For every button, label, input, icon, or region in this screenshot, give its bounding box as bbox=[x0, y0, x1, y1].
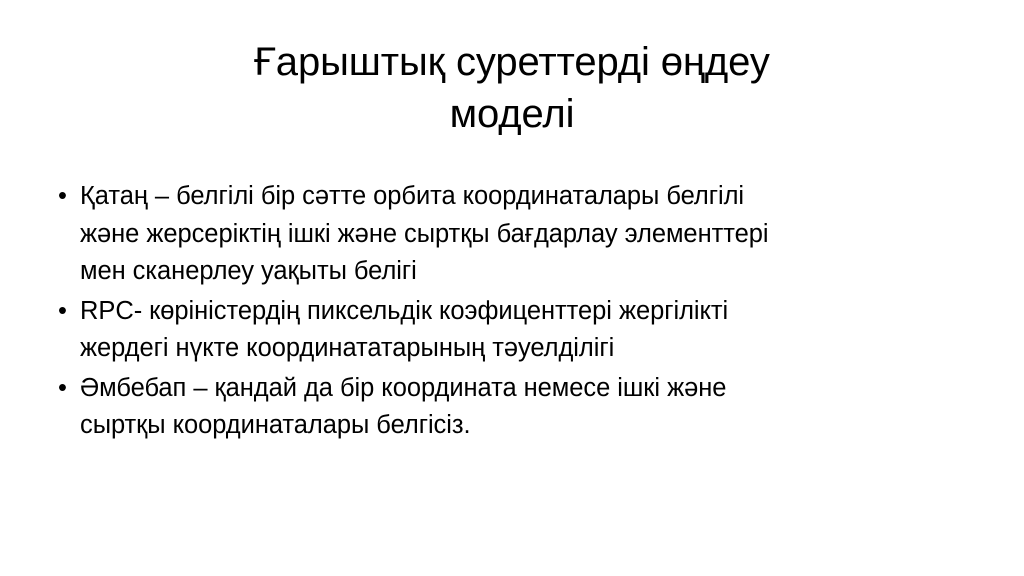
list-item-text: RPC- көріністердің пиксельдік коэфицентт… bbox=[80, 293, 780, 368]
bullet-dot-icon: • bbox=[58, 370, 72, 408]
slide-title-line-2: моделі bbox=[64, 88, 960, 140]
slide-canvas: Ғарыштық суреттерді өңдеу моделі • Қатаң… bbox=[0, 0, 1024, 576]
list-item: • Әмбебап – қандай да бір координата нем… bbox=[46, 370, 976, 445]
bullet-dot-icon: • bbox=[58, 293, 72, 331]
slide-title-line-1: Ғарыштық суреттерді өңдеу bbox=[64, 36, 960, 88]
bullet-dot-icon: • bbox=[58, 178, 72, 216]
slide-title: Ғарыштық суреттерді өңдеу моделі bbox=[64, 36, 960, 140]
list-item-text: Әмбебап – қандай да бір координата немес… bbox=[80, 370, 800, 445]
slide-body-list: • Қатаң – белгілі бір сәтте орбита коорд… bbox=[46, 178, 976, 447]
list-item-text: Қатаң – белгілі бір сәтте орбита координ… bbox=[80, 178, 780, 291]
list-item: • RPC- көріністердің пиксельдік коэфицен… bbox=[46, 293, 976, 368]
list-item: • Қатаң – белгілі бір сәтте орбита коорд… bbox=[46, 178, 976, 291]
